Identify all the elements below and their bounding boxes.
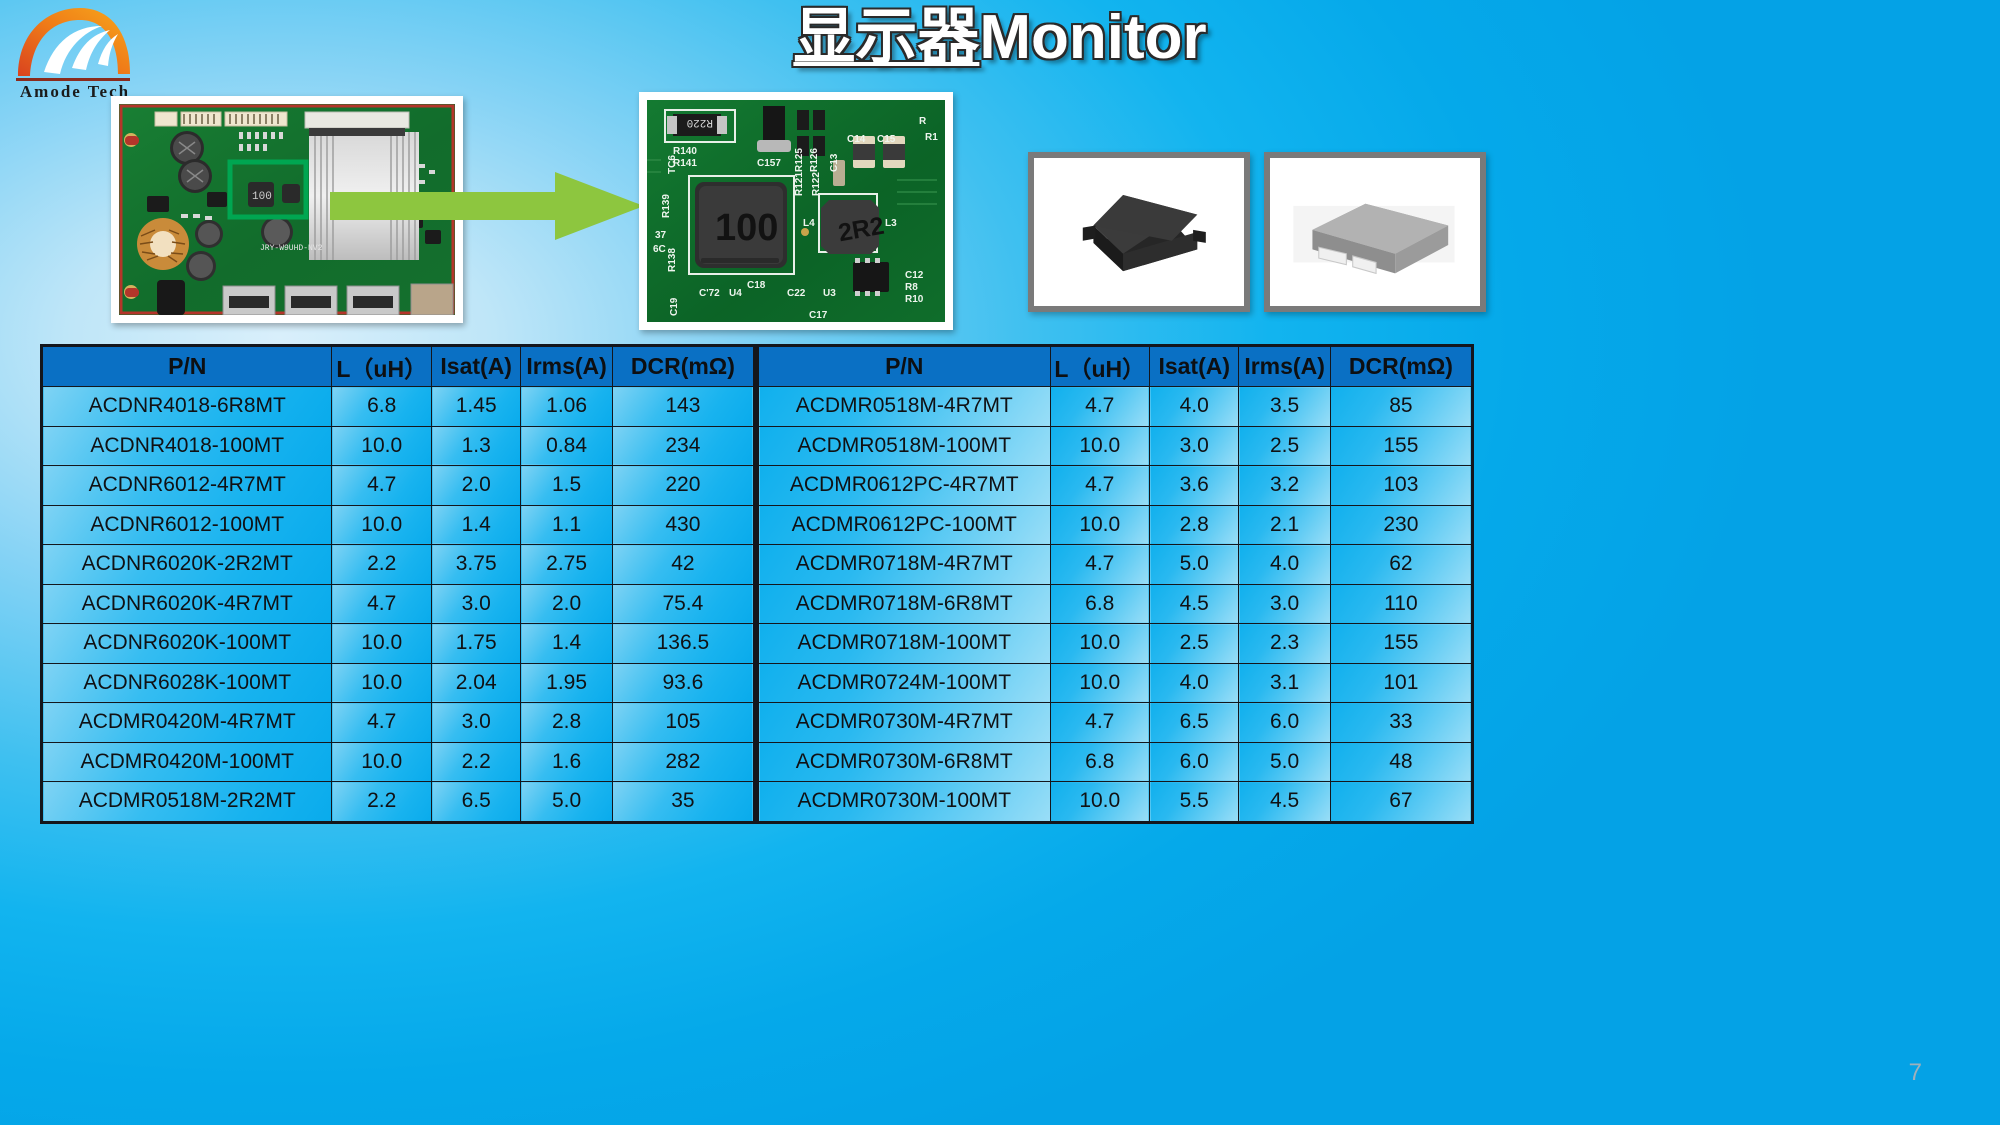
svg-text:C15: C15	[877, 134, 896, 145]
cell-pn: ACDMR0420M-4R7MT	[42, 703, 332, 743]
green-right-arrow	[330, 170, 645, 242]
svg-text:100: 100	[715, 207, 778, 249]
table-row: ACDNR6012-4R7MT4.72.01.5220	[42, 466, 755, 506]
table-body-right: ACDMR0518M-4R7MT4.74.03.585ACDMR0518M-10…	[758, 387, 1473, 823]
svg-text:C14: C14	[847, 134, 866, 145]
cell-l: 10.0	[332, 426, 432, 466]
cell-irms: 3.1	[1239, 663, 1330, 703]
cell-isat: 3.0	[1150, 426, 1239, 466]
svg-text:C157: C157	[757, 158, 781, 169]
cell-pn: ACDMR0518M-2R2MT	[42, 782, 332, 823]
page-title-en: Monitor	[979, 3, 1206, 72]
svg-text:R8: R8	[905, 282, 918, 293]
cell-pn: ACDMR0420M-100MT	[42, 742, 332, 782]
svg-text:R121: R121	[794, 172, 805, 196]
cell-dcr: 62	[1330, 545, 1472, 585]
cell-pn: ACDMR0724M-100MT	[758, 663, 1051, 703]
cell-irms: 1.95	[521, 663, 612, 703]
svg-text:R220: R220	[687, 116, 713, 128]
svg-text:R126: R126	[809, 148, 820, 172]
cell-l: 2.2	[332, 545, 432, 585]
cell-irms: 2.5	[1239, 426, 1330, 466]
cell-isat: 2.2	[432, 742, 521, 782]
cell-isat: 1.45	[432, 387, 521, 427]
cell-l: 4.7	[1050, 466, 1150, 506]
svg-text:100: 100	[252, 191, 272, 203]
svg-text:U3: U3	[823, 288, 836, 299]
cell-irms: 0.84	[521, 426, 612, 466]
svg-text:6C: 6C	[653, 244, 666, 255]
cell-isat: 6.0	[1150, 742, 1239, 782]
cell-pn: ACDNR4018-6R8MT	[42, 387, 332, 427]
table-body-left: ACDNR4018-6R8MT6.81.451.06143ACDNR4018-1…	[42, 387, 755, 823]
svg-text:C'72: C'72	[699, 288, 720, 299]
cell-l: 10.0	[1050, 426, 1150, 466]
cell-pn: ACDNR6020K-4R7MT	[42, 584, 332, 624]
cell-dcr: 67	[1330, 782, 1472, 823]
cell-l: 4.7	[332, 584, 432, 624]
svg-text:R122: R122	[811, 172, 822, 196]
cell-l: 10.0	[332, 505, 432, 545]
svg-text:L3: L3	[885, 218, 897, 229]
cell-dcr: 33	[1330, 703, 1472, 743]
cell-dcr: 85	[1330, 387, 1472, 427]
cell-pn: ACDNR6012-100MT	[42, 505, 332, 545]
cell-pn: ACDMR0518M-4R7MT	[758, 387, 1051, 427]
svg-text:R10: R10	[905, 294, 924, 305]
svg-text:C19: C19	[669, 297, 680, 316]
cell-isat: 6.5	[432, 782, 521, 823]
table-row: ACDMR0718M-6R8MT6.84.53.0110	[758, 584, 1473, 624]
cell-irms: 3.5	[1239, 387, 1330, 427]
cell-pn: ACDMR0718M-4R7MT	[758, 545, 1051, 585]
cell-irms: 5.0	[1239, 742, 1330, 782]
col-header-dcr: DCR(mΩ)	[1330, 346, 1472, 387]
cell-isat: 3.75	[432, 545, 521, 585]
col-header-dcr: DCR(mΩ)	[612, 346, 754, 387]
svg-text:JRY-W9UHD-NV2: JRY-W9UHD-NV2	[260, 244, 323, 253]
svg-text:R138: R138	[667, 248, 678, 272]
svg-text:37: 37	[655, 230, 667, 241]
svg-text:C18: C18	[747, 280, 766, 291]
cell-isat: 6.5	[1150, 703, 1239, 743]
cell-pn: ACDMR0730M-100MT	[758, 782, 1051, 823]
cell-pn: ACDMR0730M-6R8MT	[758, 742, 1051, 782]
cell-isat: 5.0	[1150, 545, 1239, 585]
cell-irms: 5.0	[521, 782, 612, 823]
table-row: ACDMR0518M-4R7MT4.74.03.585	[758, 387, 1473, 427]
table-row: ACDMR0718M-100MT10.02.52.3155	[758, 624, 1473, 664]
cell-pn: ACDNR4018-100MT	[42, 426, 332, 466]
table-row: ACDMR0420M-100MT10.02.21.6282	[42, 742, 755, 782]
cell-irms: 2.3	[1239, 624, 1330, 664]
table-row: ACDMR0420M-4R7MT4.73.02.8105	[42, 703, 755, 743]
cell-irms: 1.6	[521, 742, 612, 782]
cell-irms: 2.75	[521, 545, 612, 585]
svg-text:C13: C13	[829, 153, 840, 172]
cell-l: 10.0	[1050, 624, 1150, 664]
table-row: ACDNR4018-6R8MT6.81.451.06143	[42, 387, 755, 427]
col-header-pn: P/N	[758, 346, 1051, 387]
table-header-row: P/N L（uH） Isat(A) Irms(A) DCR(mΩ)	[42, 346, 755, 387]
cell-pn: ACDMR0612PC-100MT	[758, 505, 1051, 545]
smd-power-inductor-drawing	[1264, 152, 1486, 312]
table-row: ACDNR6020K-4R7MT4.73.02.075.4	[42, 584, 755, 624]
cell-dcr: 35	[612, 782, 754, 823]
cell-irms: 4.0	[1239, 545, 1330, 585]
cell-dcr: 220	[612, 466, 754, 506]
cell-l: 6.8	[1050, 742, 1150, 782]
cell-isat: 3.0	[432, 703, 521, 743]
table-row: ACDMR0730M-100MT10.05.54.567	[758, 782, 1473, 823]
page-title-cn: 显示器	[793, 3, 979, 72]
col-header-isat: Isat(A)	[432, 346, 521, 387]
table-row: ACDNR6012-100MT10.01.41.1430	[42, 505, 755, 545]
cell-isat: 2.0	[432, 466, 521, 506]
cell-irms: 2.1	[1239, 505, 1330, 545]
table-header-row: P/N L（uH） Isat(A) Irms(A) DCR(mΩ)	[758, 346, 1473, 387]
svg-text:R: R	[919, 116, 927, 127]
table-row: ACDNR4018-100MT10.01.30.84234	[42, 426, 755, 466]
cell-l: 2.2	[332, 782, 432, 823]
cell-irms: 2.0	[521, 584, 612, 624]
table-row: ACDNR6020K-100MT10.01.751.4136.5	[42, 624, 755, 664]
spec-table-right: P/N L（uH） Isat(A) Irms(A) DCR(mΩ) ACDMR0…	[756, 344, 1474, 824]
col-header-irms: Irms(A)	[1239, 346, 1330, 387]
cell-dcr: 110	[1330, 584, 1472, 624]
spec-table-left: P/N L（uH） Isat(A) Irms(A) DCR(mΩ) ACDNR4…	[40, 344, 756, 824]
cell-l: 6.8	[1050, 584, 1150, 624]
cell-l: 10.0	[1050, 663, 1150, 703]
cell-l: 10.0	[332, 663, 432, 703]
cell-dcr: 105	[612, 703, 754, 743]
table-row: ACDMR0730M-6R8MT6.86.05.048	[758, 742, 1473, 782]
cell-irms: 1.06	[521, 387, 612, 427]
cell-dcr: 155	[1330, 426, 1472, 466]
svg-text:TC6: TC6	[667, 155, 678, 174]
cell-isat: 2.5	[1150, 624, 1239, 664]
svg-text:U4: U4	[729, 288, 742, 299]
cell-irms: 3.0	[1239, 584, 1330, 624]
cell-pn: ACDNR6012-4R7MT	[42, 466, 332, 506]
cell-l: 4.7	[1050, 387, 1150, 427]
svg-text:C22: C22	[787, 288, 806, 299]
cell-pn: ACDNR6020K-2R2MT	[42, 545, 332, 585]
inductor-closeup-photo: 100 2R2 R220	[639, 92, 953, 330]
cell-isat: 4.0	[1150, 663, 1239, 703]
col-header-l: L（uH）	[332, 346, 432, 387]
table-row: ACDNR6020K-2R2MT2.23.752.7542	[42, 545, 755, 585]
cell-dcr: 143	[612, 387, 754, 427]
cell-isat: 5.5	[1150, 782, 1239, 823]
closeup-image: 100 2R2 R220	[647, 100, 945, 322]
col-header-irms: Irms(A)	[521, 346, 612, 387]
table-row: ACDMR0518M-100MT10.03.02.5155	[758, 426, 1473, 466]
svg-text:R1: R1	[925, 132, 938, 143]
cell-irms: 1.4	[521, 624, 612, 664]
cell-irms: 2.8	[521, 703, 612, 743]
spec-tables: P/N L（uH） Isat(A) Irms(A) DCR(mΩ) ACDNR4…	[40, 344, 1474, 824]
col-header-isat: Isat(A)	[1150, 346, 1239, 387]
table-row: ACDNR6028K-100MT10.02.041.9593.6	[42, 663, 755, 703]
cell-dcr: 430	[612, 505, 754, 545]
col-header-l: L（uH）	[1050, 346, 1150, 387]
svg-text:C17: C17	[809, 310, 828, 321]
cell-dcr: 155	[1330, 624, 1472, 664]
cell-isat: 3.6	[1150, 466, 1239, 506]
cell-l: 4.7	[332, 466, 432, 506]
cell-dcr: 230	[1330, 505, 1472, 545]
cell-dcr: 42	[612, 545, 754, 585]
cell-pn: ACDMR0518M-100MT	[758, 426, 1051, 466]
logo-underline	[16, 78, 130, 81]
table-row: ACDMR0730M-4R7MT4.76.56.033	[758, 703, 1473, 743]
cell-pn: ACDMR0718M-100MT	[758, 624, 1051, 664]
cell-dcr: 93.6	[612, 663, 754, 703]
cell-isat: 3.0	[432, 584, 521, 624]
cell-irms: 4.5	[1239, 782, 1330, 823]
cell-dcr: 75.4	[612, 584, 754, 624]
cell-isat: 1.4	[432, 505, 521, 545]
cell-pn: ACDNR6020K-100MT	[42, 624, 332, 664]
table-row: ACDMR0724M-100MT10.04.03.1101	[758, 663, 1473, 703]
cell-l: 4.7	[1050, 545, 1150, 585]
cell-l: 6.8	[332, 387, 432, 427]
cell-isat: 2.04	[432, 663, 521, 703]
cell-pn: ACDMR0730M-4R7MT	[758, 703, 1051, 743]
cell-irms: 1.1	[521, 505, 612, 545]
table-row: ACDMR0718M-4R7MT4.75.04.062	[758, 545, 1473, 585]
cell-l: 10.0	[1050, 505, 1150, 545]
svg-text:R139: R139	[661, 194, 672, 218]
table-row: ACDMR0518M-2R2MT2.26.55.035	[42, 782, 755, 823]
cell-l: 4.7	[1050, 703, 1150, 743]
cell-l: 10.0	[332, 742, 432, 782]
smd-power-inductor-photo	[1028, 152, 1250, 312]
cell-pn: ACDNR6028K-100MT	[42, 663, 332, 703]
cell-pn: ACDMR0612PC-4R7MT	[758, 466, 1051, 506]
cell-dcr: 282	[612, 742, 754, 782]
cell-l: 10.0	[1050, 782, 1150, 823]
cell-l: 4.7	[332, 703, 432, 743]
cell-isat: 2.8	[1150, 505, 1239, 545]
cell-irms: 1.5	[521, 466, 612, 506]
cell-isat: 4.0	[1150, 387, 1239, 427]
cell-pn: ACDMR0718M-6R8MT	[758, 584, 1051, 624]
svg-text:C12: C12	[905, 270, 924, 281]
cell-isat: 4.5	[1150, 584, 1239, 624]
table-row: ACDMR0612PC-100MT10.02.82.1230	[758, 505, 1473, 545]
cell-isat: 1.75	[432, 624, 521, 664]
cell-dcr: 48	[1330, 742, 1472, 782]
cell-dcr: 234	[612, 426, 754, 466]
cell-dcr: 101	[1330, 663, 1472, 703]
cell-irms: 6.0	[1239, 703, 1330, 743]
page-title: 显示器Monitor	[0, 4, 2000, 72]
cell-isat: 1.3	[432, 426, 521, 466]
cell-irms: 3.2	[1239, 466, 1330, 506]
cell-l: 10.0	[332, 624, 432, 664]
table-row: ACDMR0612PC-4R7MT4.73.63.2103	[758, 466, 1473, 506]
cell-dcr: 103	[1330, 466, 1472, 506]
cell-dcr: 136.5	[612, 624, 754, 664]
page-number: 7	[1909, 1059, 1922, 1087]
svg-text:L4: L4	[803, 218, 815, 229]
svg-text:R125: R125	[794, 148, 805, 172]
slide: Amode Tech 显示器Monitor	[0, 0, 2000, 1125]
col-header-pn: P/N	[42, 346, 332, 387]
